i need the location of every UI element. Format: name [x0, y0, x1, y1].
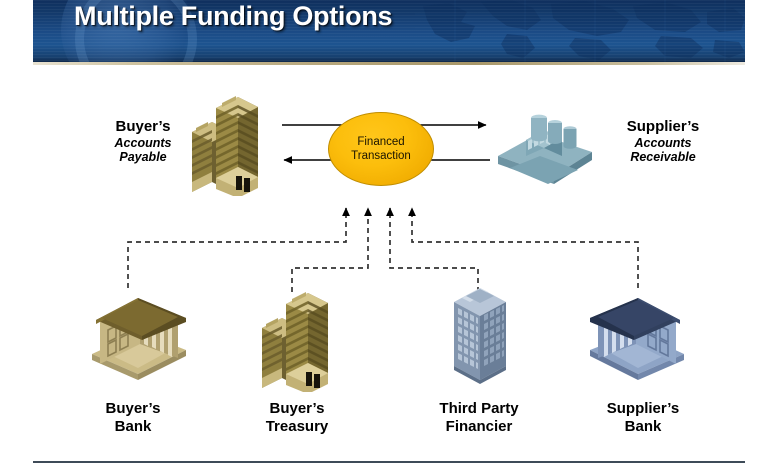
funding-line-third-party-financier — [390, 208, 478, 292]
third-party-financier-label-line1: Third Party — [412, 400, 546, 418]
buyers-bank-label-line1: Buyer’s — [68, 400, 198, 418]
financed-transaction-line2: Transaction — [351, 149, 411, 163]
buyers-bank-label: Buyer’s Bank — [68, 400, 198, 435]
suppliers-bank-classical-bank-icon — [584, 288, 694, 380]
supplier-label-line2: Accounts — [598, 136, 728, 151]
header-accent-rule — [33, 62, 745, 65]
financed-transaction-node: Financed Transaction — [328, 112, 434, 186]
buyers-treasury-office-tower-icon — [248, 282, 340, 392]
third-party-financier-label-line2: Financier — [412, 418, 546, 436]
supplier-label-line3: Receivable — [598, 150, 728, 165]
supplier-factory-icon — [492, 104, 598, 190]
slide: Multiple Funding Options — [0, 0, 780, 470]
buyers-treasury-label: Buyer’s Treasury — [232, 400, 362, 435]
buyers-bank-label-line2: Bank — [68, 418, 198, 436]
supplier-label-line1: Supplier’s — [598, 118, 728, 136]
buyer-office-tower-icon — [178, 86, 270, 196]
world-map-watermark-icon — [415, 0, 745, 62]
buyers-treasury-label-line2: Treasury — [232, 418, 362, 436]
funding-line-buyers-treasury — [292, 208, 368, 292]
buyers-bank-classical-bank-icon — [82, 288, 192, 380]
page-title: Multiple Funding Options — [74, 1, 392, 32]
funding-line-suppliers-bank — [412, 208, 638, 288]
supplier-label: Supplier’s Accounts Receivable — [598, 118, 728, 165]
financed-transaction-line1: Financed — [357, 135, 404, 149]
footer-rule — [33, 461, 745, 463]
third-party-financier-skyscraper-icon — [436, 284, 522, 386]
suppliers-bank-label-line1: Supplier’s — [578, 400, 708, 418]
suppliers-bank-label: Supplier’s Bank — [578, 400, 708, 435]
third-party-financier-label: Third Party Financier — [412, 400, 546, 435]
buyers-treasury-label-line1: Buyer’s — [232, 400, 362, 418]
funding-line-buyers-bank — [128, 208, 346, 288]
suppliers-bank-label-line2: Bank — [578, 418, 708, 436]
